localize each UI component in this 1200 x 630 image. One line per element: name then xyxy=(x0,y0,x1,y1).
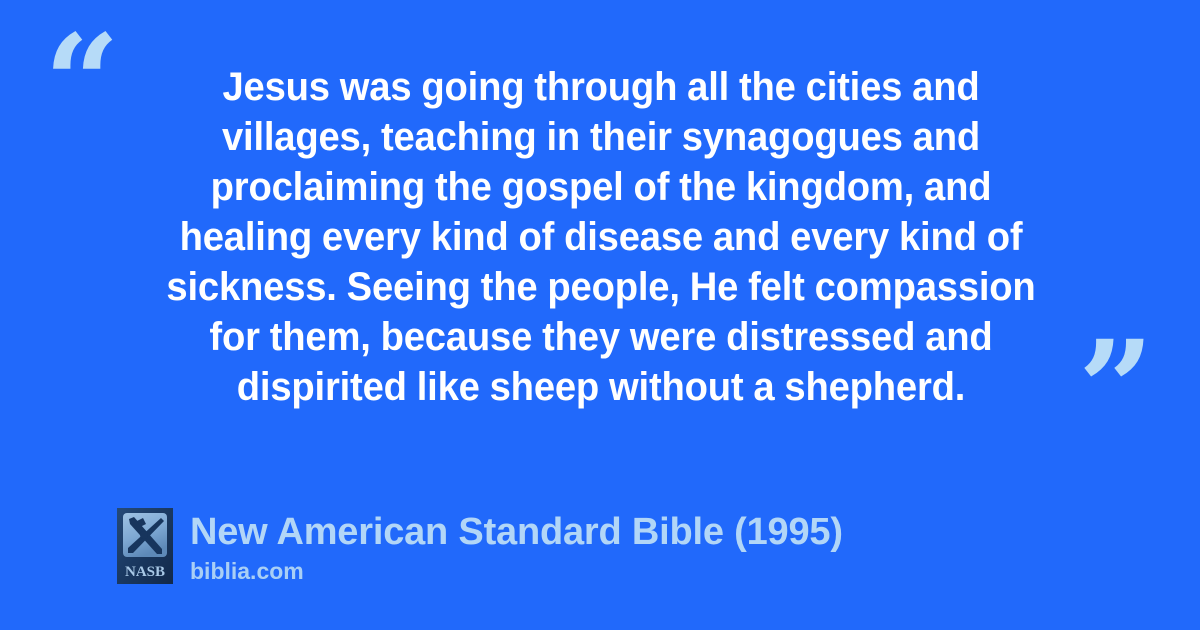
quote-card: “ Jesus was going through all the cities… xyxy=(0,0,1200,630)
attribution: NASB New American Standard Bible (1995) … xyxy=(117,508,843,585)
quote-block: Jesus was going through all the cities a… xyxy=(136,62,1066,412)
source-site-link[interactable]: biblia.com xyxy=(190,557,843,585)
closing-quote-icon: ” xyxy=(1078,324,1154,456)
attribution-text: New American Standard Bible (1995) bibli… xyxy=(190,508,843,585)
nasb-logo-icon: NASB xyxy=(117,508,173,584)
source-title: New American Standard Bible (1995) xyxy=(190,510,843,554)
opening-quote-icon: “ xyxy=(44,18,120,150)
nasb-logo-label: NASB xyxy=(125,564,165,580)
quote-text: Jesus was going through all the cities a… xyxy=(157,62,1045,412)
